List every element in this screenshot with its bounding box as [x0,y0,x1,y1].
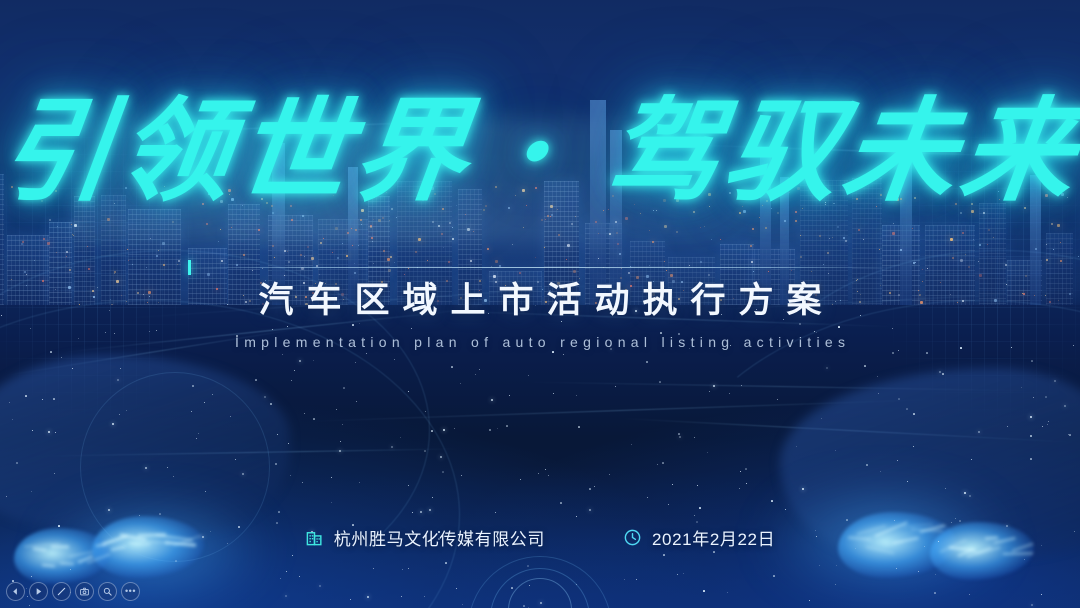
zoom-button[interactable] [98,582,117,601]
star-particle [424,450,426,452]
star-particle [359,482,360,483]
window-light [355,229,357,231]
star-particle [615,386,616,387]
star-particle [727,592,728,593]
star-particle [835,584,836,585]
star-particle [313,360,314,361]
window-light [751,261,753,263]
star-particle [942,373,944,375]
window-light [378,219,381,222]
window-light [598,233,599,234]
building-icon [305,528,324,547]
star-particle [563,354,564,355]
window-light [541,219,543,221]
window-light [452,227,453,228]
star-particle [373,568,374,569]
window-light [304,256,305,257]
window-light [750,245,752,247]
window-light [791,270,792,271]
window-light [795,220,797,222]
star-particle [331,502,332,503]
window-light [441,233,443,235]
window-light [438,225,440,227]
window-light [272,245,274,247]
star-particle [432,497,433,498]
window-light [609,233,611,235]
headlight-fin [60,562,74,565]
star-particle [391,446,393,448]
star-particle [1048,421,1049,422]
window-light [448,261,450,263]
star-particle [713,551,715,553]
star-particle [408,391,409,392]
clock-icon [623,528,642,547]
star-particle [359,323,360,324]
star-particle [497,428,498,429]
star-particle [408,485,409,486]
window-light [373,263,374,264]
star-particle [475,374,476,375]
star-particle [560,502,562,504]
star-particle [1031,360,1033,362]
window-light [823,264,824,265]
star-particle [826,367,828,369]
star-particle [342,424,343,425]
star-particle [290,475,291,476]
star-particle [286,571,287,572]
star-particle [408,568,409,569]
window-light [571,223,573,225]
star-particle [53,398,55,400]
star-particle [538,473,539,474]
star-particle [294,370,295,371]
star-particle [126,410,127,411]
star-particle [892,352,894,354]
window-light [351,228,352,229]
window-light [342,243,343,244]
star-particle [906,408,908,410]
star-particle [509,395,510,396]
star-particle [255,379,257,381]
window-light [311,257,314,260]
window-light [615,221,617,223]
window-light [387,258,390,261]
window-light [545,219,546,220]
window-light [323,238,324,239]
star-particle [835,450,836,451]
star-particle [771,500,773,502]
window-light [829,238,830,239]
star-particle [576,516,577,517]
window-light [427,260,428,261]
window-light [443,247,444,248]
star-particle [443,429,445,431]
star-particle [366,353,367,354]
window-light [700,261,702,263]
ellipsis-icon: ••• [125,587,136,596]
star-particle [445,562,447,564]
star-particle [663,554,665,556]
star-particle [877,376,878,377]
window-light [765,227,767,229]
window-light [360,219,362,221]
star-particle [276,522,278,524]
window-light [720,239,721,240]
star-particle [528,375,529,376]
star-particle [331,477,332,478]
window-light [689,265,690,266]
window-light [704,226,705,227]
star-particle [343,387,345,389]
star-particle [636,579,637,580]
window-light [819,235,821,237]
window-light [595,221,597,223]
window-light [418,238,421,241]
star-particle [694,515,695,516]
star-particle [313,418,315,420]
star-particle [340,441,341,442]
star-particle [277,434,278,435]
title-divider [186,267,894,268]
star-particle [205,491,206,492]
star-particle [462,604,463,605]
star-particle [356,401,357,402]
star-particle [55,432,56,433]
star-particle [139,515,140,516]
window-light [544,247,545,248]
star-particle [304,413,305,414]
star-particle [913,413,915,415]
window-light [252,270,253,271]
window-light [495,260,498,263]
star-particle [175,560,177,562]
star-particle [969,594,970,595]
star-particle [703,590,705,592]
presentation-slide: 引领世界 · 驾驭未来 汽车区域上市活动执行方案 Implementation … [0,0,1080,608]
window-light [800,235,801,236]
star-particle [894,520,895,521]
star-particle [898,350,899,351]
window-light [664,261,665,262]
star-particle [394,359,395,360]
star-particle [589,488,591,490]
star-particle [668,504,669,505]
star-particle [352,324,354,326]
star-particle [926,352,928,354]
star-particle [292,555,293,556]
star-particle [278,511,280,513]
window-light [449,222,451,224]
window-light [346,255,348,257]
star-particle [809,600,810,601]
star-particle [367,596,369,598]
star-particle [489,429,491,431]
star-particle [709,391,710,392]
star-particle [272,329,273,330]
slideshow-toolbar[interactable]: ••• [6,582,140,601]
star-particle [440,456,442,458]
star-particle [204,402,205,403]
window-light [711,239,712,240]
star-particle [740,471,741,472]
star-particle [287,326,288,327]
star-particle [773,575,775,577]
date-meta: 2021年2月22日 [623,525,775,550]
star-particle [679,436,681,438]
star-particle [913,446,914,447]
window-light [320,242,322,244]
star-particle [479,369,480,370]
star-particle [456,588,457,589]
footer-meta: 杭州胜马文化传媒有限公司 2021年2月22日 [0,525,1080,550]
star-particle [454,428,455,429]
star-particle [545,469,546,470]
star-particle [707,452,708,453]
star-particle [646,361,648,363]
window-light [759,217,760,218]
previous-slide-button[interactable] [6,582,25,601]
star-particle [412,512,413,513]
window-light [845,240,847,242]
star-particle [683,573,684,574]
window-light [664,225,667,228]
star-particle [431,430,433,432]
window-light [666,270,667,271]
window-light [382,217,384,219]
window-light [558,234,560,236]
star-particle [696,521,698,523]
main-title: 引领世界 · 驾驭未来 [0,96,1080,208]
window-light [452,238,454,240]
star-particle [1031,604,1033,606]
star-particle [511,587,513,589]
star-particle [30,328,31,329]
star-particle [971,459,972,460]
star-particle [429,509,431,511]
star-particle [1069,434,1071,436]
star-particle [451,366,453,368]
star-particle [149,331,150,332]
star-particle [548,475,549,476]
window-light [523,227,524,228]
star-particle [1047,424,1048,425]
star-particle [50,351,52,353]
star-particle [589,509,591,511]
star-particle [16,462,18,464]
camera-icon [79,586,90,597]
window-light [619,253,621,255]
star-particle [460,383,461,384]
previous-icon [10,586,21,597]
window-light [372,241,373,242]
window-light [473,231,474,232]
star-particle [898,398,900,400]
window-light [652,241,654,243]
window-light [284,250,286,252]
star-particle [699,507,701,509]
star-particle [553,393,554,394]
star-particle [1045,396,1047,398]
star-particle [697,485,698,486]
star-particle [1030,458,1032,460]
star-particle [299,360,301,362]
window-light [291,219,293,221]
star-particle [319,585,321,587]
screenshot-button[interactable] [75,582,94,601]
star-particle [578,426,580,428]
window-light [800,256,802,258]
star-particle [838,326,840,328]
star-particle [299,576,300,577]
star-particle [741,385,742,386]
star-particle [624,579,625,580]
window-light [361,224,362,225]
star-particle [192,385,194,387]
star-particle [659,381,661,383]
window-light [220,229,221,230]
star-particle [159,513,161,515]
window-light [837,226,839,228]
window-light [649,230,650,231]
star-particle [552,351,554,353]
window-light [467,228,470,231]
star-particle [495,512,496,513]
star-particle [527,565,529,567]
window-light [370,226,372,228]
window-light [352,245,353,246]
star-particle [411,328,412,329]
window-light [470,260,472,262]
star-particle [866,464,868,466]
star-particle [520,479,521,480]
window-light [827,252,829,254]
window-light [598,258,599,259]
star-particle [647,497,648,498]
star-particle [678,433,680,435]
window-light [390,256,392,258]
star-particle [400,437,401,438]
star-particle [739,488,740,489]
star-particle [32,430,33,431]
window-light [300,254,302,256]
star-particle [864,365,866,367]
star-particle [672,484,673,485]
star-particle [280,578,281,579]
headlight-fin [1003,552,1034,555]
window-light [621,268,622,269]
window-light [700,227,701,228]
window-light [843,237,845,239]
subtitle-chinese: 汽车区域上市活动执行方案 [0,272,1080,323]
pen-annotate-button[interactable] [52,582,71,601]
star-particle [355,362,356,363]
window-light [206,223,208,225]
window-light [396,217,397,218]
star-particle [816,332,817,333]
more-options-button[interactable]: ••• [121,582,140,601]
star-particle [657,464,658,465]
window-light [332,252,333,253]
window-light [676,231,678,233]
star-particle [746,483,747,484]
star-particle [72,368,73,369]
window-light [616,232,618,234]
star-particle [729,393,730,394]
star-particle [713,385,715,387]
window-light [243,254,245,256]
star-particle [350,599,351,600]
star-particle [402,569,403,570]
pen-icon [56,586,67,597]
star-particle [631,444,632,445]
company-meta: 杭州胜马文化传媒有限公司 [305,525,545,550]
star-particle [401,596,402,597]
star-particle [302,482,303,483]
star-particle [25,395,27,397]
window-light [373,219,374,220]
star-particle [821,418,822,419]
star-particle [9,402,10,403]
star-particle [420,511,422,513]
star-particle [461,475,462,476]
window-light [236,264,238,266]
star-particle [594,486,595,487]
star-particle [336,409,337,410]
subtitle-english: Implementation plan of auto regional lis… [0,334,1080,350]
star-particle [609,474,610,475]
company-name: 杭州胜马文化传媒有限公司 [334,525,545,550]
star-particle [745,468,747,470]
star-particle [1041,594,1042,595]
star-particle [506,425,508,427]
window-light [863,239,864,240]
window-light [487,248,489,250]
window-light [566,259,567,260]
star-particle [799,323,801,325]
window-light [832,237,833,238]
star-particle [1007,426,1008,427]
star-particle [339,450,341,452]
star-particle [694,437,695,438]
play-slide-button[interactable] [29,582,48,601]
star-particle [29,605,30,606]
window-light [221,260,223,262]
window-light [358,245,359,246]
window-light [337,257,339,259]
window-light [354,263,355,264]
star-particle [491,399,493,401]
window-light [394,262,395,263]
window-light [567,245,568,246]
star-particle [54,473,55,474]
window-light [784,220,786,222]
star-particle [291,380,292,381]
window-light [432,221,434,223]
star-particle [576,395,577,396]
magnifier-icon [102,586,113,597]
window-light [347,232,349,234]
window-light [752,228,754,230]
star-particle [777,399,778,400]
star-particle [42,399,43,400]
headlight-fin [42,564,55,567]
window-light [218,241,219,242]
window-light [535,257,536,258]
star-particle [814,331,815,332]
star-particle [425,411,426,412]
window-light [389,220,390,221]
star-particle [285,595,287,597]
